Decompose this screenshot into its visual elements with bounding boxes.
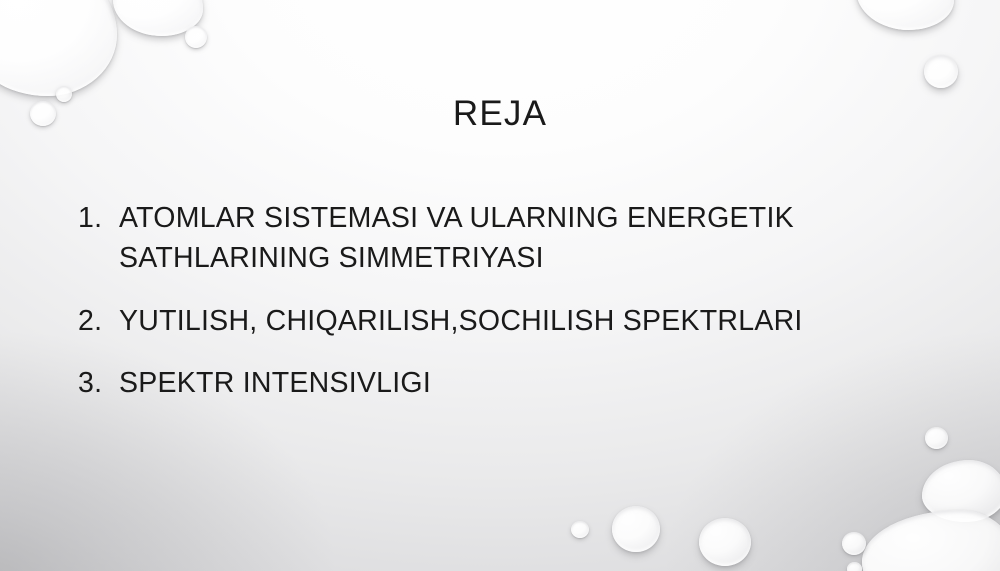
water-droplet-decoration: [113, 0, 203, 36]
list-item-text: ATOMLAR SISTEMASI VA ULARNING ENERGETIK …: [119, 198, 938, 279]
water-droplet-decoration: [862, 510, 1000, 571]
water-droplet-decoration: [699, 518, 751, 566]
water-droplet-decoration: [612, 506, 660, 552]
water-droplet-decoration: [847, 562, 862, 571]
list-item: 1. ATOMLAR SISTEMASI VA ULARNING ENERGET…: [78, 198, 938, 279]
water-droplet-decoration: [924, 55, 958, 88]
list-item: 3. SPEKTR INTENSIVLIGI: [78, 363, 938, 403]
water-droplet-decoration: [922, 460, 1000, 522]
slide-title: REJA: [0, 95, 1000, 134]
water-droplet-decoration: [0, 0, 117, 96]
water-droplet-decoration: [185, 26, 207, 48]
list-item-text: SPEKTR INTENSIVLIGI: [119, 363, 938, 403]
water-droplet-decoration: [925, 427, 948, 449]
water-droplet-decoration: [856, 0, 954, 30]
list-item-text: YUTILISH, CHIQARILISH,SOCHILISH SPEKTRLA…: [119, 301, 938, 341]
list-item: 2. YUTILISH, CHIQARILISH,SOCHILISH SPEKT…: [78, 301, 938, 341]
water-droplet-decoration: [842, 532, 866, 555]
list-item-number: 2.: [78, 301, 112, 341]
presentation-slide: REJA 1. ATOMLAR SISTEMASI VA ULARNING EN…: [0, 0, 1000, 571]
list-item-number: 3.: [78, 363, 112, 403]
slide-body-list: 1. ATOMLAR SISTEMASI VA ULARNING ENERGET…: [78, 198, 938, 426]
water-droplet-decoration: [571, 521, 589, 538]
list-item-number: 1.: [78, 198, 112, 238]
